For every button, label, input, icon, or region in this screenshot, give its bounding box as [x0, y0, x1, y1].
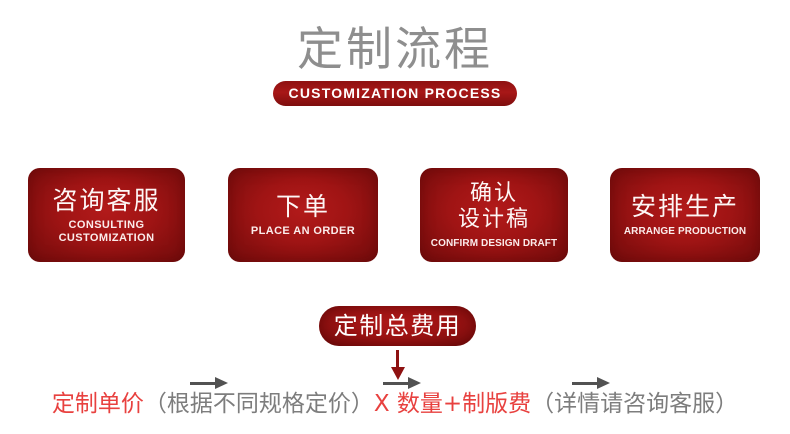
- flow-step-place-order[interactable]: 下单 PLACE AN ORDER: [228, 168, 378, 262]
- formula-unit-price: 定制单价: [52, 391, 144, 417]
- formula-details-note: （详情请咨询客服）: [531, 391, 738, 417]
- page-header: 定制流程 CUSTOMIZATION PROCESS: [0, 0, 790, 107]
- page-title: 定制流程: [0, 0, 790, 76]
- flow-step-4-cn-label: 安排生产: [631, 192, 739, 221]
- total-cost-label: 定制总费用: [334, 312, 462, 340]
- flow-step-2-en-label: PLACE AN ORDER: [251, 225, 355, 238]
- arrow-down-icon: [391, 350, 405, 380]
- arrow-shaft: [572, 382, 599, 385]
- flow-step-arrange-production[interactable]: 安排生产 ARRANGE PRODUCTION: [610, 168, 760, 262]
- flow-step-confirm-design[interactable]: 确认 设计稿 CONFIRM DESIGN DRAFT: [420, 168, 568, 262]
- formula-unit-price-note: （根据不同规格定价）: [144, 391, 374, 417]
- flow-step-3-cn-label: 确认 设计稿: [458, 181, 530, 233]
- arrow-shaft: [190, 382, 217, 385]
- cost-formula-line: 定制单价（根据不同规格定价）X 数量+制版费（详情请咨询客服）: [0, 388, 790, 420]
- subtitle-badge-wrap: CUSTOMIZATION PROCESS: [0, 81, 790, 107]
- flow-step-1-cn-label: 咨询客服: [52, 186, 160, 215]
- subtitle-badge: CUSTOMIZATION PROCESS: [273, 81, 518, 106]
- arrow-shaft: [383, 382, 410, 385]
- flow-step-2-cn-label: 下单: [276, 192, 330, 221]
- formula-quantity-plate-fee: X 数量+制版费: [374, 391, 531, 417]
- flow-step-consulting[interactable]: 咨询客服 CONSULTING CUSTOMIZATION: [28, 168, 185, 262]
- flow-step-4-en-label: ARRANGE PRODUCTION: [624, 225, 746, 238]
- process-flow-row: 咨询客服 CONSULTING CUSTOMIZATION 下单 PLACE A…: [0, 168, 790, 262]
- flow-step-3-en-label: CONFIRM DESIGN DRAFT: [431, 237, 557, 250]
- arrow-head: [391, 367, 405, 380]
- total-cost-pill[interactable]: 定制总费用: [319, 306, 476, 346]
- flow-step-1-en-label: CONSULTING CUSTOMIZATION: [59, 219, 155, 245]
